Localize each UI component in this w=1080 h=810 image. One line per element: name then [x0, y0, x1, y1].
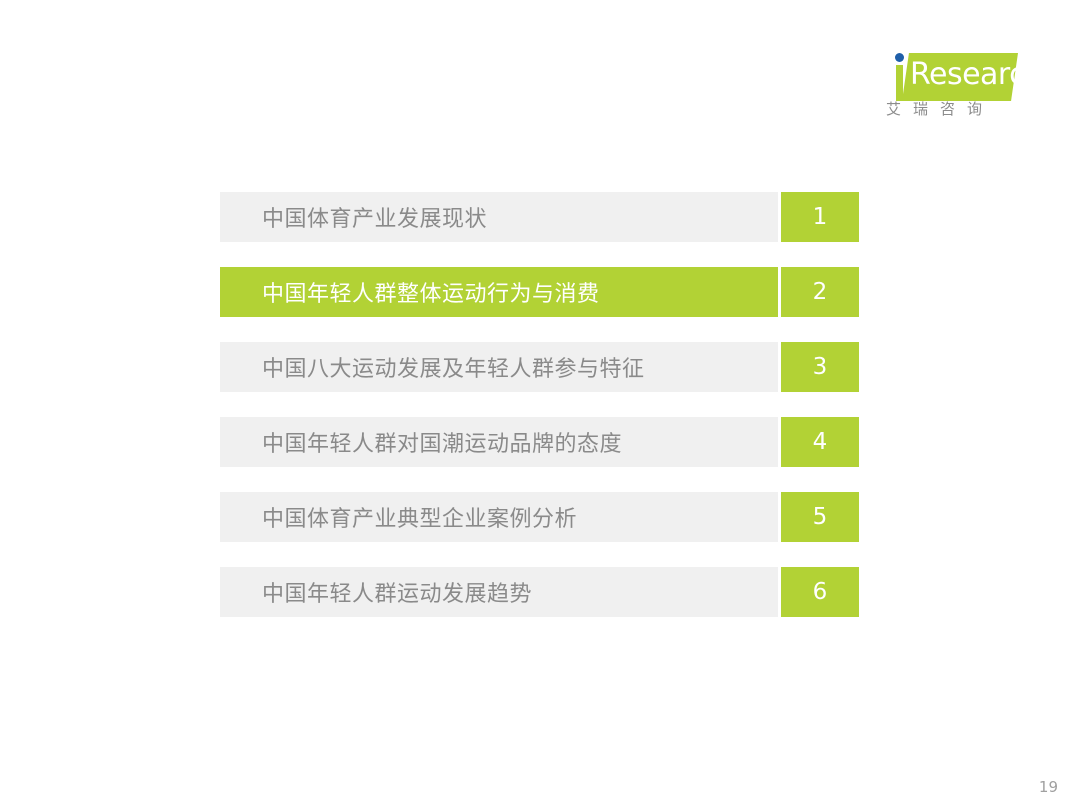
logo-chinese-name: 艾瑞咨询 — [886, 98, 994, 119]
agenda-row[interactable]: 中国年轻人群对国潮运动品牌的态度 4 — [220, 417, 859, 467]
agenda-row[interactable]: 中国体育产业发展现状 1 — [220, 192, 859, 242]
logo-letter-i-stem-icon — [896, 65, 903, 101]
agenda-item-label: 中国年轻人群运动发展趋势 — [220, 567, 778, 617]
agenda-item-label: 中国体育产业发展现状 — [220, 192, 778, 242]
agenda-item-label: 中国体育产业典型企业案例分析 — [220, 492, 778, 542]
agenda-row-active[interactable]: 中国年轻人群整体运动行为与消费 2 — [220, 267, 859, 317]
agenda-item-number: 5 — [781, 492, 859, 542]
agenda-list: 中国体育产业发展现状 1 中国年轻人群整体运动行为与消费 2 中国八大运动发展及… — [220, 192, 859, 617]
logo-wordmark: Research — [910, 58, 1044, 92]
agenda-row[interactable]: 中国年轻人群运动发展趋势 6 — [220, 567, 859, 617]
agenda-item-label: 中国年轻人群整体运动行为与消费 — [220, 267, 778, 317]
agenda-item-number: 6 — [781, 567, 859, 617]
agenda-row[interactable]: 中国体育产业典型企业案例分析 5 — [220, 492, 859, 542]
agenda-row[interactable]: 中国八大运动发展及年轻人群参与特征 3 — [220, 342, 859, 392]
logo-letter-i-dot-icon — [895, 53, 904, 62]
agenda-item-number: 2 — [781, 267, 859, 317]
iresearch-logo: Research 艾瑞咨询 — [880, 45, 1030, 130]
agenda-item-number: 3 — [781, 342, 859, 392]
agenda-item-number: 1 — [781, 192, 859, 242]
agenda-item-label: 中国年轻人群对国潮运动品牌的态度 — [220, 417, 778, 467]
logo-mark: Research — [880, 45, 1030, 101]
page-number: 19 — [1039, 778, 1058, 796]
agenda-item-number: 4 — [781, 417, 859, 467]
agenda-item-label: 中国八大运动发展及年轻人群参与特征 — [220, 342, 778, 392]
